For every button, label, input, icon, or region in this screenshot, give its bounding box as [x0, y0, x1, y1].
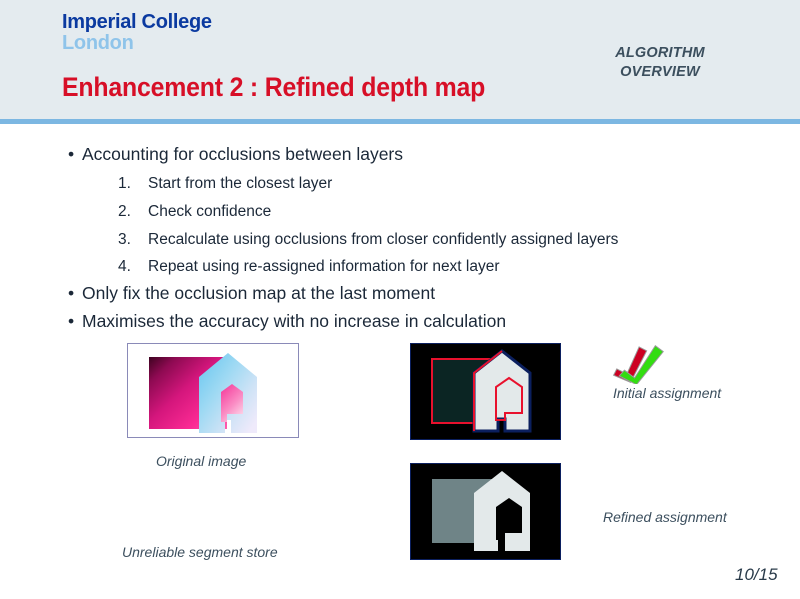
bullet-marker-2: •: [68, 284, 82, 303]
imperial-college-london-logo: Imperial College London: [62, 12, 212, 53]
numbered-marker-4: 4.: [118, 258, 148, 275]
section-label-line-1: ALGORITHM: [560, 44, 760, 63]
numbered-label-1: Start from the closest layer: [148, 175, 332, 192]
initial-assignment-graphic: [410, 343, 561, 440]
logo-line-imperial-college: Imperial College: [62, 12, 212, 32]
caption-initial-assignment: Initial assignment: [613, 385, 721, 401]
figure-refined-assignment: [410, 463, 561, 560]
refined-assignment-graphic: [410, 463, 561, 560]
bullet-label-2: Only fix the occlusion map at the last m…: [82, 283, 435, 303]
caption-unreliable-segment-store: Unreliable segment store: [122, 544, 278, 560]
numbered-label-3: Recalculate using occlusions from closer…: [148, 231, 618, 248]
logo-line-london: London: [62, 33, 212, 53]
caption-original-image: Original image: [156, 453, 246, 469]
numbered-item-3: 3.Recalculate using occlusions from clos…: [118, 231, 618, 248]
figure-initial-assignment: [410, 343, 561, 440]
bullet-label-1: Accounting for occlusions between layers: [82, 144, 403, 164]
numbered-item-2: 2.Check confidence: [118, 203, 271, 220]
bullet-marker-3: •: [68, 312, 82, 331]
bullet-item-1: •Accounting for occlusions between layer…: [68, 145, 403, 164]
section-label-line-2: OVERVIEW: [560, 63, 760, 82]
section-label: ALGORITHM OVERVIEW: [560, 44, 760, 81]
page-title: Enhancement 2 : Refined depth map: [62, 72, 485, 103]
numbered-label-4: Repeat using re-assigned information for…: [148, 258, 500, 275]
bullet-marker-1: •: [68, 145, 82, 164]
bullet-item-2: •Only fix the occlusion map at the last …: [68, 284, 435, 303]
caption-refined-assignment: Refined assignment: [603, 509, 727, 525]
original-image-graphic: [128, 344, 298, 437]
slide-body: •Accounting for occlusions between layer…: [0, 124, 800, 599]
numbered-marker-2: 2.: [118, 203, 148, 220]
double-check-marks-icon: [606, 342, 668, 384]
numbered-marker-3: 3.: [118, 231, 148, 248]
page-number: 10/15: [735, 565, 778, 585]
numbered-marker-1: 1.: [118, 175, 148, 192]
numbered-item-4: 4.Repeat using re-assigned information f…: [118, 258, 500, 275]
numbered-label-2: Check confidence: [148, 203, 271, 220]
bullet-item-3: •Maximises the accuracy with no increase…: [68, 312, 506, 331]
bullet-label-3: Maximises the accuracy with no increase …: [82, 311, 506, 331]
figure-original-image: [127, 343, 299, 438]
numbered-item-1: 1.Start from the closest layer: [118, 175, 332, 192]
figure-check-marks: [606, 342, 668, 384]
